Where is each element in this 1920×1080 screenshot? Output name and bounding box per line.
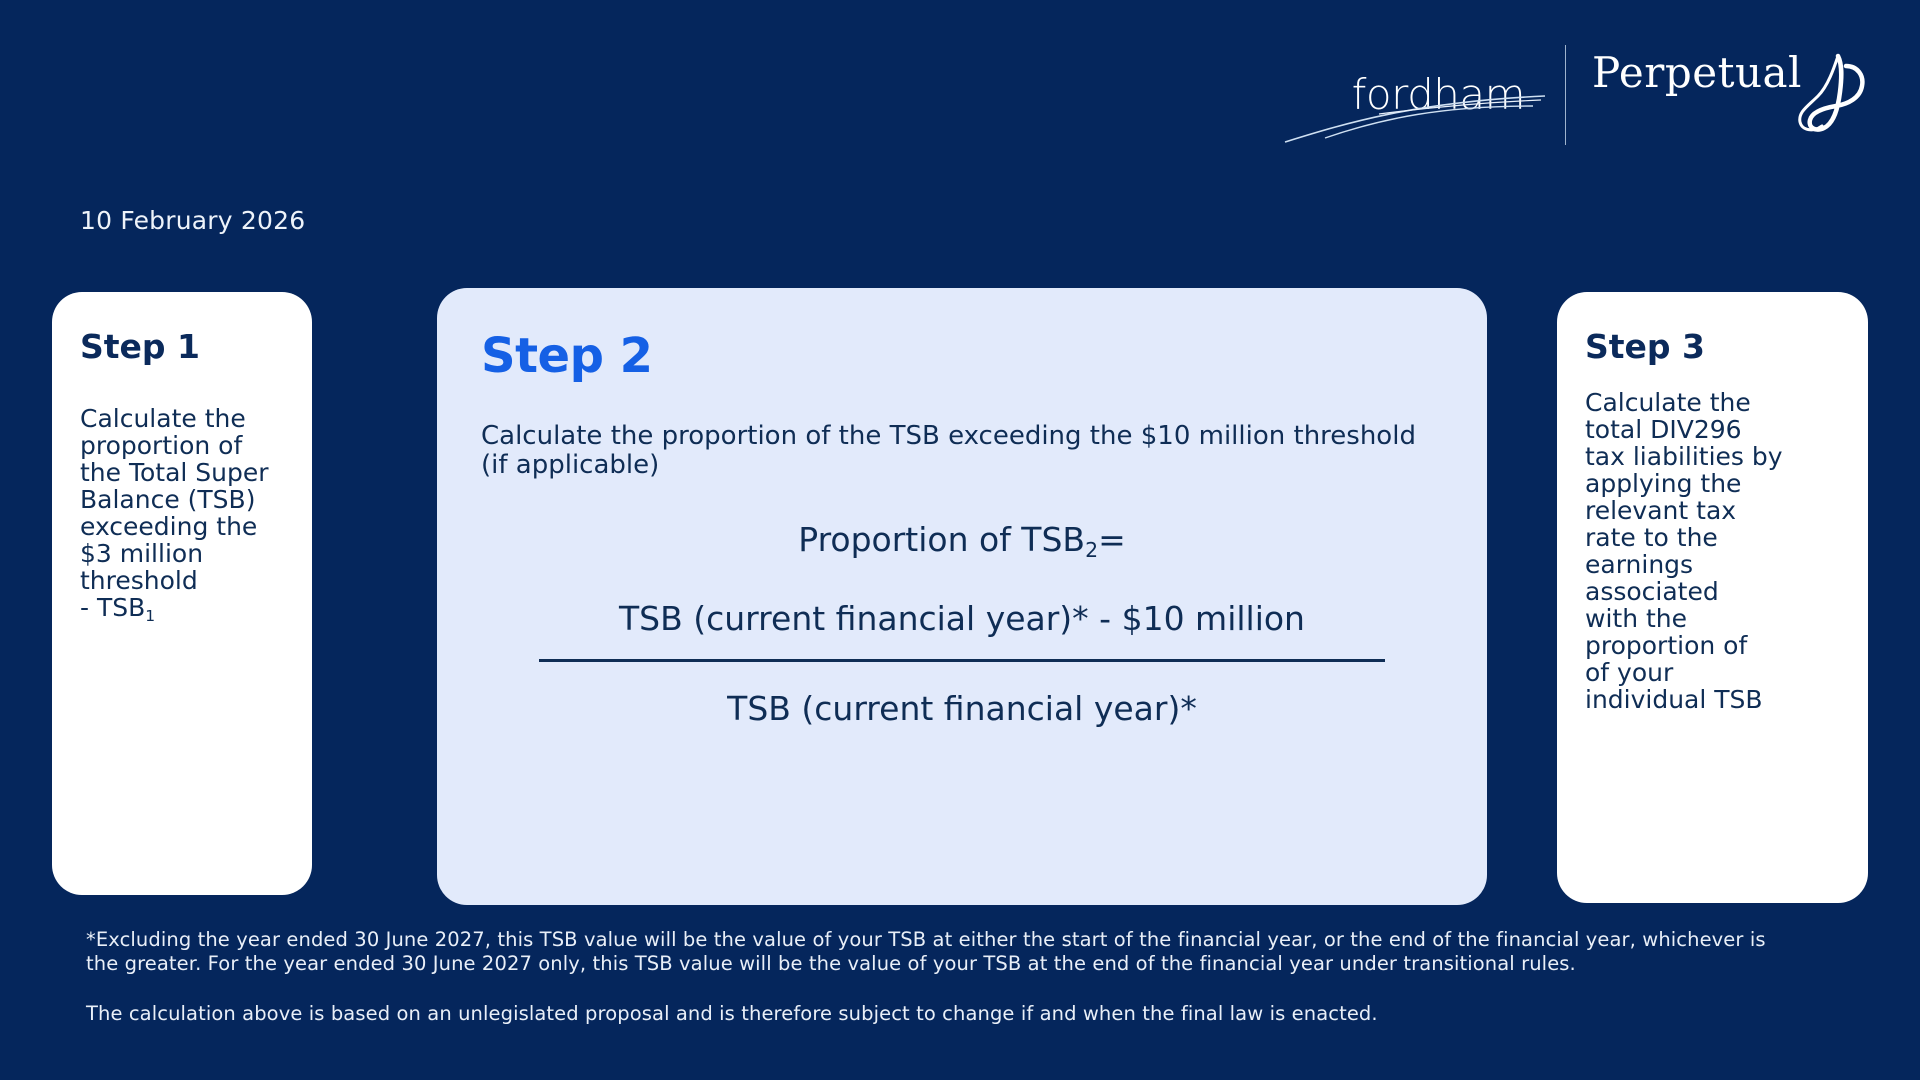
step-1-tsb-subscript: 1: [145, 607, 155, 625]
step-3-line: Calculate the: [1585, 389, 1840, 416]
step-3-line: rate to the: [1585, 524, 1840, 551]
perpetual-infinity-icon: [1794, 52, 1868, 138]
formula-lhs-subscript: 2: [1085, 538, 1098, 562]
step-3-line: relevant tax: [1585, 497, 1840, 524]
step-1-line: $3 million: [80, 540, 284, 567]
step-1-line: Calculate the: [80, 405, 284, 432]
formula-equals-sign: =: [1098, 520, 1126, 559]
footnote-unlegislated-disclaimer: The calculation above is based on an unl…: [86, 1002, 1786, 1026]
formula-numerator: TSB (current financial year)* - $10 mill…: [481, 602, 1443, 659]
step-1-title: Step 1: [80, 330, 284, 363]
step-3-line: earnings: [1585, 551, 1840, 578]
step-1-line: threshold: [80, 567, 284, 594]
brand-logo-bar: fordham Perpetual: [1289, 40, 1868, 150]
step-2-title: Step 2: [481, 332, 1443, 380]
step-2-card: Step 2 Calculate the proportion of the T…: [437, 288, 1487, 905]
step-3-line: individual TSB: [1585, 686, 1840, 713]
formula-fraction: TSB (current financial year)* - $10 mill…: [481, 602, 1443, 725]
step-1-body: Calculate the proportion of the Total Su…: [80, 405, 284, 621]
step-3-title: Step 3: [1585, 330, 1840, 363]
fordham-wordmark: fordham: [1352, 74, 1525, 116]
footnotes: *Excluding the year ended 30 June 2027, …: [86, 928, 1786, 1025]
step-2-formula: Proportion of TSB2= TSB (current financi…: [481, 523, 1443, 725]
step-1-tsb-label: - TSB: [80, 593, 145, 622]
fordham-logo: fordham: [1289, 40, 1539, 150]
step-3-body: Calculate the total DIV296 tax liabiliti…: [1585, 389, 1840, 713]
step-1-tsb-line: - TSB1: [80, 594, 284, 621]
slide-date: 10 February 2026: [80, 206, 305, 235]
step-3-card: Step 3 Calculate the total DIV296 tax li…: [1557, 292, 1868, 903]
step-1-line: exceeding the: [80, 513, 284, 540]
formula-left-hand-side: Proportion of TSB2=: [481, 523, 1443, 556]
logo-divider: [1565, 45, 1566, 145]
step-3-line: associated: [1585, 578, 1840, 605]
step-1-card: Step 1 Calculate the proportion of the T…: [52, 292, 312, 895]
step-1-line: the Total Super: [80, 459, 284, 486]
formula-denominator: TSB (current financial year)*: [481, 662, 1443, 725]
formula-lhs-label: Proportion of TSB: [798, 520, 1085, 559]
perpetual-logo: Perpetual: [1592, 52, 1868, 138]
step-3-line: with the: [1585, 605, 1840, 632]
perpetual-wordmark: Perpetual: [1592, 52, 1802, 94]
step-1-line: Balance (TSB): [80, 486, 284, 513]
step-1-line: proportion of: [80, 432, 284, 459]
step-3-line: of your: [1585, 659, 1840, 686]
step-2-body: Calculate the proportion of the TSB exce…: [481, 422, 1443, 481]
step-3-line: applying the: [1585, 470, 1840, 497]
step-3-line: proportion of: [1585, 632, 1840, 659]
step-3-line: tax liabilities by: [1585, 443, 1840, 470]
footnote-tsb-definition: *Excluding the year ended 30 June 2027, …: [86, 928, 1786, 976]
step-3-line: total DIV296: [1585, 416, 1840, 443]
